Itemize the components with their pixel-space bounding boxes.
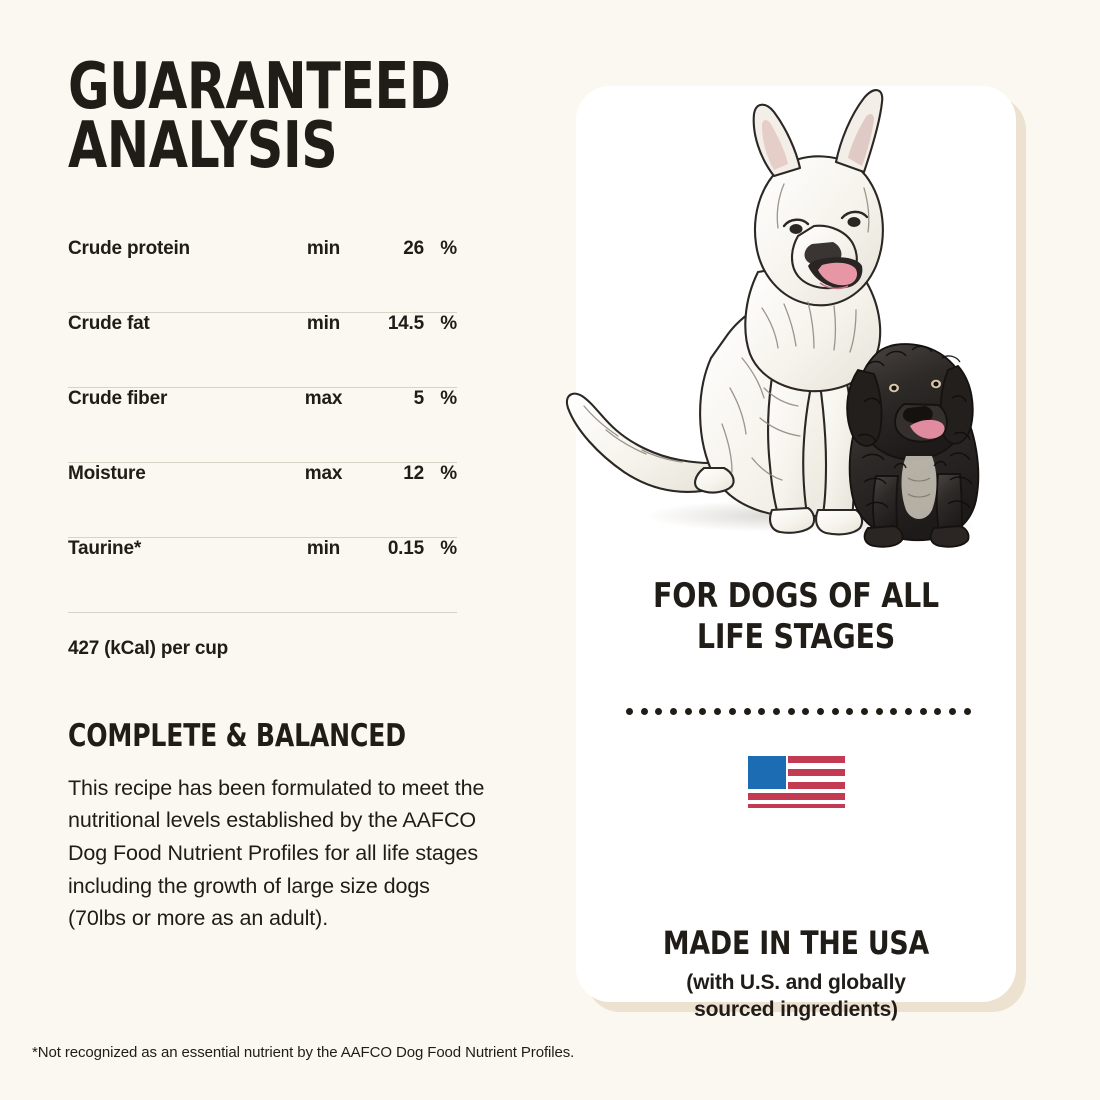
- nutrient-qualifier: min: [286, 313, 361, 335]
- divider-dot: [890, 708, 897, 715]
- nutrient-unit: %: [424, 538, 457, 560]
- divider-dot: [846, 708, 853, 715]
- divider-dot: [934, 708, 941, 715]
- two-dogs-illustration: [546, 58, 1046, 578]
- divider-dot: [714, 708, 721, 715]
- nutrient-unit: %: [424, 463, 457, 485]
- nutrient-value: 5: [361, 388, 424, 410]
- table-row: Crude protein min 26 %: [68, 238, 457, 313]
- divider-dot: [876, 708, 883, 715]
- divider-dot: [685, 708, 692, 715]
- table-row: Moisture max 12 %: [68, 463, 457, 538]
- guaranteed-analysis-panel: GUARANTEED ANALYSIS Crude protein min 26…: [0, 0, 1100, 1100]
- us-flag-icon: [748, 756, 845, 808]
- table-row: Taurine* min 0.15 %: [68, 538, 457, 613]
- life-stages-heading: FOR DOGS OF ALL LIFE STAGES: [591, 576, 1000, 659]
- nutrient-qualifier: max: [286, 463, 361, 485]
- nutrient-qualifier: min: [286, 238, 361, 260]
- nutrient-name: Crude fiber: [68, 388, 286, 410]
- nutrient-value: 0.15: [361, 538, 424, 560]
- table-row: Crude fat min 14.5 %: [68, 313, 457, 388]
- nutrient-name: Taurine*: [68, 538, 286, 560]
- divider-dot: [949, 708, 956, 715]
- divider-dot: [773, 708, 780, 715]
- complete-balanced-title: COMPLETE & BALANCED: [68, 718, 446, 754]
- guaranteed-analysis-table: Crude protein min 26 % Crude fat min 14.…: [68, 238, 457, 613]
- divider-dot: [670, 708, 677, 715]
- footnote-taurine: *Not recognized as an essential nutrient…: [32, 1044, 574, 1061]
- nutrient-value: 12: [361, 463, 424, 485]
- dotted-divider: [626, 706, 971, 716]
- divider-dot: [729, 708, 736, 715]
- divider-dot: [788, 708, 795, 715]
- divider-dot: [832, 708, 839, 715]
- nutrient-unit: %: [424, 388, 457, 410]
- divider-dot: [920, 708, 927, 715]
- divider-dot: [802, 708, 809, 715]
- divider-dot: [905, 708, 912, 715]
- divider-dot: [964, 708, 971, 715]
- nutrient-value: 26: [361, 238, 424, 260]
- info-card: FOR DOGS OF ALL LIFE STAGES MADE IN THE …: [576, 86, 1016, 1002]
- divider-dot: [861, 708, 868, 715]
- nutrient-qualifier: min: [286, 538, 361, 560]
- made-in-usa-heading: MADE IN THE USA: [591, 924, 1000, 962]
- divider-dot: [758, 708, 765, 715]
- nutrient-name: Moisture: [68, 463, 286, 485]
- divider-dot: [655, 708, 662, 715]
- nutrient-name: Crude fat: [68, 313, 286, 335]
- nutrient-unit: %: [424, 313, 457, 335]
- divider-dot: [626, 708, 633, 715]
- nutrient-unit: %: [424, 238, 457, 260]
- complete-balanced-body: This recipe has been formulated to meet …: [68, 772, 488, 935]
- divider-dot: [744, 708, 751, 715]
- made-in-usa-subtext: (with U.S. and globally sourced ingredie…: [576, 970, 1016, 1024]
- divider-dot: [817, 708, 824, 715]
- table-row: Crude fiber max 5 %: [68, 388, 457, 463]
- page-title: GUARANTEED ANALYSIS: [68, 58, 438, 176]
- divider-dot: [699, 708, 706, 715]
- calorie-content: 427 (kCal) per cup: [68, 638, 488, 660]
- nutrient-name: Crude protein: [68, 238, 286, 260]
- left-column: GUARANTEED ANALYSIS Crude protein min 26…: [68, 58, 488, 935]
- divider-dot: [641, 708, 648, 715]
- nutrient-value: 14.5: [361, 313, 424, 335]
- nutrient-qualifier: max: [286, 388, 361, 410]
